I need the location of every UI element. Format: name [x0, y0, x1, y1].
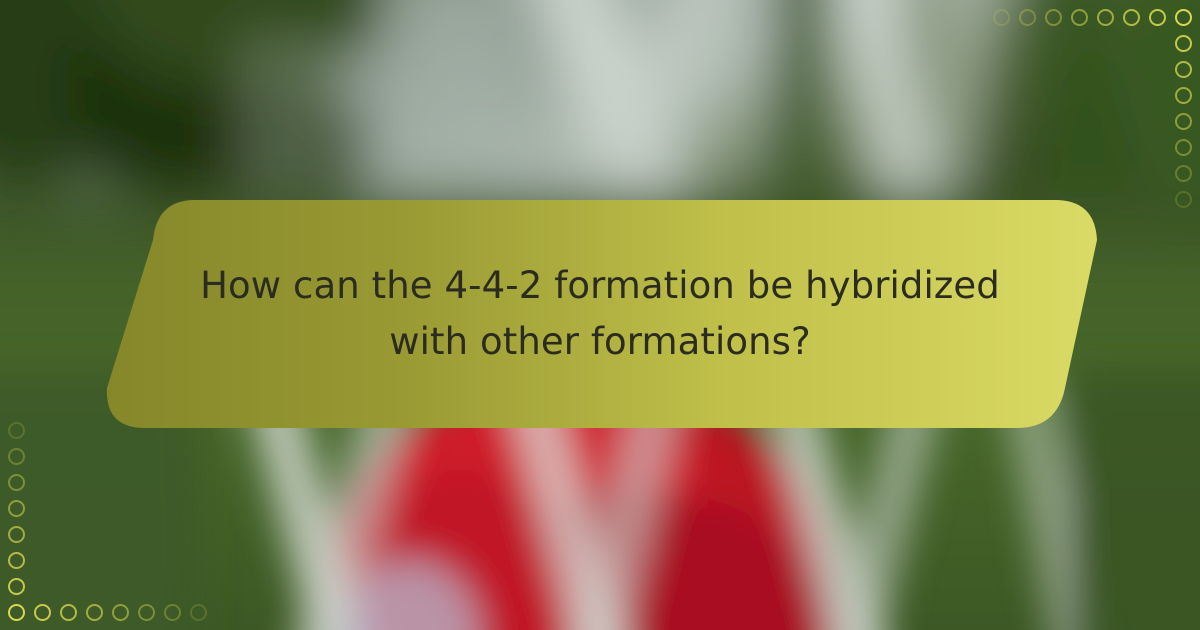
- decorative-dot: [8, 500, 25, 517]
- decorative-dot: [993, 9, 1010, 26]
- decorative-dot: [1175, 113, 1192, 130]
- decorative-dot: [1175, 9, 1192, 26]
- decorative-dot: [8, 474, 25, 491]
- decorative-dots-top-right: [985, 0, 1200, 215]
- decorative-dot: [8, 422, 25, 439]
- decorative-dot: [8, 604, 25, 621]
- decorative-dot: [1175, 35, 1192, 52]
- decorative-dot: [1175, 191, 1192, 208]
- decorative-dot: [1175, 139, 1192, 156]
- decorative-dot: [86, 604, 103, 621]
- decorative-dot: [8, 448, 25, 465]
- decorative-dot: [8, 578, 25, 595]
- decorative-dot: [1019, 9, 1036, 26]
- decorative-dot: [190, 604, 207, 621]
- decorative-dot: [138, 604, 155, 621]
- decorative-dot: [1149, 9, 1166, 26]
- decorative-dot: [60, 604, 77, 621]
- decorative-dot: [1097, 9, 1114, 26]
- question-text: How can the 4-4-2 formation be hybridize…: [175, 258, 1025, 370]
- decorative-dot: [112, 604, 129, 621]
- decorative-dot: [8, 552, 25, 569]
- decorative-dot: [1175, 61, 1192, 78]
- decorative-dots-bottom-left: [0, 415, 215, 630]
- decorative-dot: [8, 526, 25, 543]
- decorative-dot: [1123, 9, 1140, 26]
- decorative-dot: [1175, 165, 1192, 182]
- question-text-container: How can the 4-4-2 formation be hybridize…: [175, 198, 1025, 430]
- decorative-dot: [164, 604, 181, 621]
- decorative-dot: [1175, 87, 1192, 104]
- decorative-dot: [1071, 9, 1088, 26]
- decorative-dot: [1045, 9, 1062, 26]
- screenshot-canvas: How can the 4-4-2 formation be hybridize…: [0, 0, 1200, 630]
- decorative-dot: [34, 604, 51, 621]
